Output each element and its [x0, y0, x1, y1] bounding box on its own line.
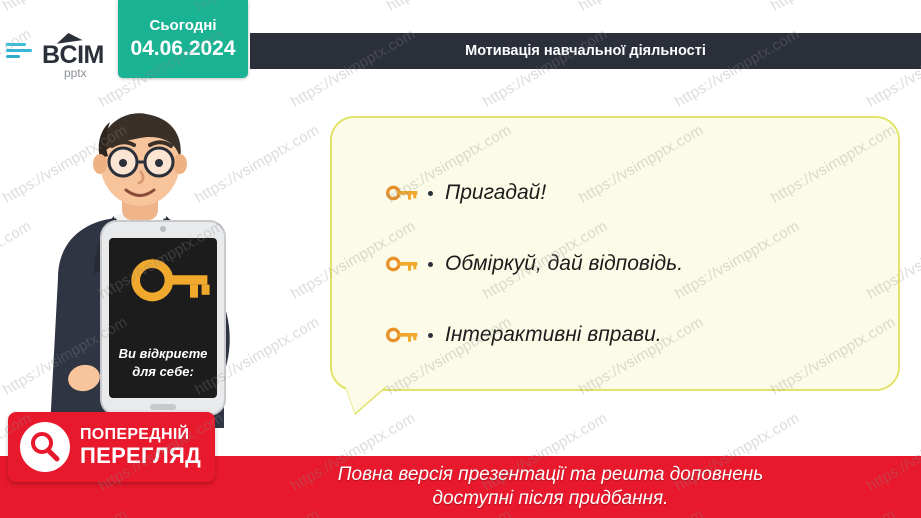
date-badge: Сьогодні 04.06.2024	[118, 0, 248, 78]
slide-title-bar: Мотивація навчальної діяльності	[250, 33, 921, 69]
key-icon	[386, 180, 428, 206]
preview-badge[interactable]: ПОПЕРЕДНІЙ ПЕРЕГЛЯД	[8, 412, 215, 482]
list-item-label: Пригадай!	[445, 181, 546, 205]
footer-message: Повна версія презентації та решта доповн…	[338, 463, 763, 511]
key-icon	[386, 251, 428, 277]
date-badge-value: 04.06.2024	[130, 37, 235, 61]
date-badge-label: Сьогодні	[150, 17, 217, 34]
logo-swoosh-icon	[6, 37, 38, 65]
bullet-dot	[428, 191, 433, 196]
key-icon	[386, 322, 428, 348]
page-title: Мотивація навчальної діяльності	[465, 43, 706, 59]
list-item-label: Обміркуй, дай відповідь.	[445, 252, 683, 276]
logo-name: BCIM	[42, 41, 104, 69]
preview-badge-line2: ПЕРЕГЛЯД	[80, 444, 201, 467]
slide-body: Ви відкриєте для себе: Пригадай!	[0, 88, 921, 456]
phone-line2: для себе:	[132, 364, 194, 379]
list-item-label: Інтерактивні вправи.	[445, 323, 662, 347]
list-item[interactable]: Пригадай!	[386, 168, 876, 218]
footer-line2: доступні після придбання.	[433, 488, 669, 509]
phone-line1: Ви відкриєте	[119, 346, 208, 361]
bullet-dot	[428, 333, 433, 338]
list-item[interactable]: Обміркуй, дай відповідь.	[386, 239, 876, 289]
speech-bubble-tail	[345, 385, 387, 413]
footer-line1: Повна версія презентації та решта доповн…	[338, 464, 763, 485]
bullet-list: Пригадай! Обміркуй, дай відповідь.	[386, 168, 876, 381]
phone-illustration: Ви відкриєте для себе:	[98, 218, 228, 418]
bullet-dot	[428, 262, 433, 267]
top-bar: BCIM pptx Сьогодні 04.06.2024 Мотивація …	[0, 0, 921, 88]
list-item[interactable]: Інтерактивні вправи.	[386, 310, 876, 360]
magnifier-icon	[20, 422, 70, 472]
preview-badge-line1: ПОПЕРЕДНІЙ	[80, 427, 201, 444]
